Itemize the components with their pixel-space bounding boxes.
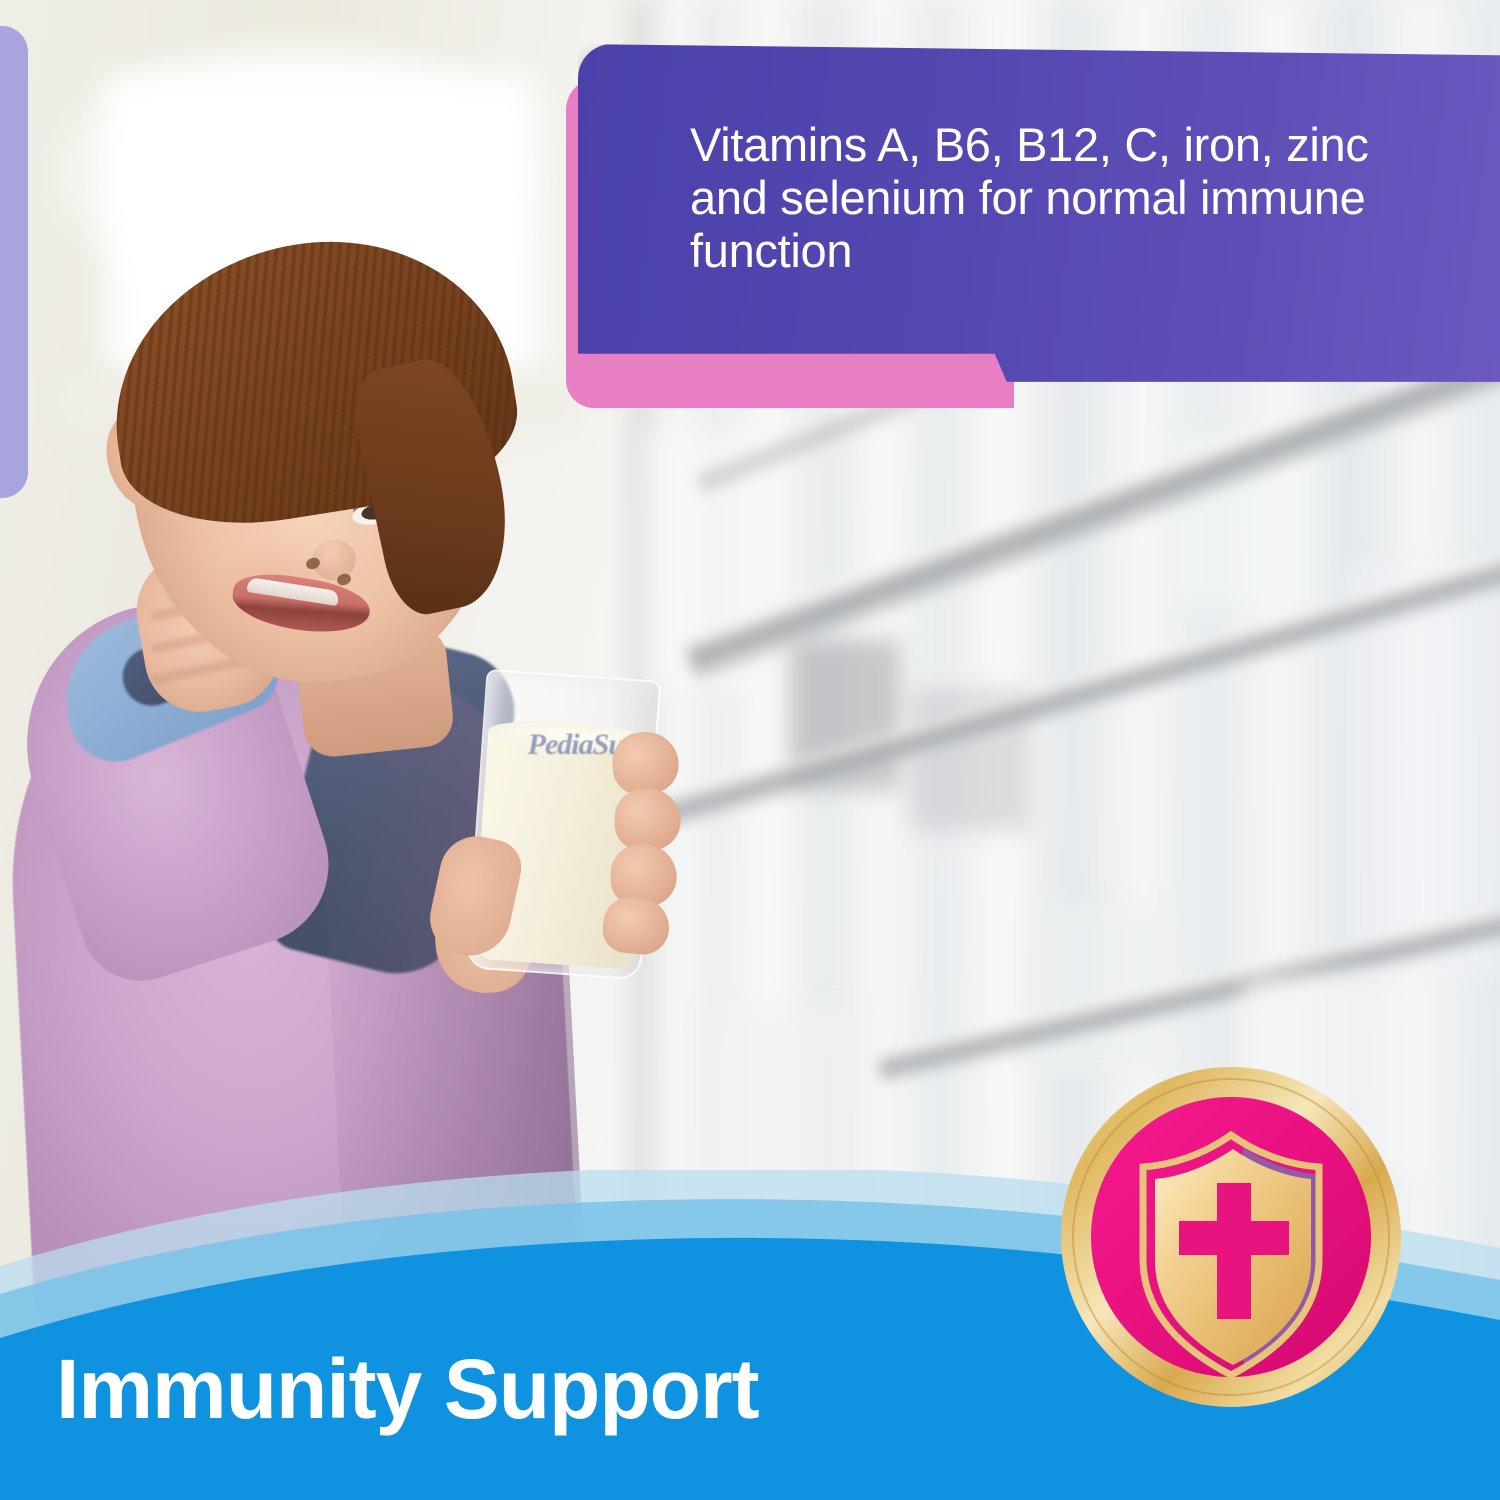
banner-text: Vitamins A, B6, B12, C, iron, zinc and s… [690, 118, 1450, 277]
promo-image: PediaSure Vitamins A, B6, B12, C, iron, … [0, 0, 1500, 1500]
boy-finger [600, 895, 671, 958]
boy-finger [614, 788, 681, 851]
page-title: Immunity Support [56, 1341, 759, 1438]
immunity-badge [1057, 1063, 1405, 1411]
boy-finger [610, 730, 680, 796]
milk-glass: PediaSure [444, 667, 696, 1012]
shelf-box [700, 1005, 860, 1195]
shield-plus-icon [1057, 1063, 1405, 1411]
boy-fingers [597, 730, 722, 987]
